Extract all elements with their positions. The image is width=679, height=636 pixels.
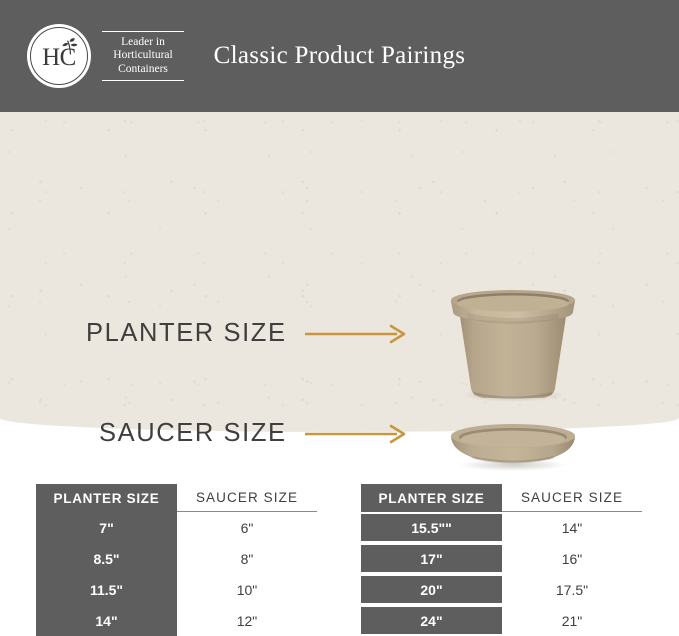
column-header-saucer-size: SAUCER SIZE [177,484,317,512]
column-header-planter-size: PLANTER SIZE [361,484,502,512]
hc-circle-logo-icon: HC [27,24,91,88]
callout-planter-size: PLANTER SIZE [86,319,409,348]
table-body: 15.5"" 14" 17" 16" 20" 17.5" 24" 21" [361,512,642,636]
hero-panel: PLANTER SIZE SAUCER SIZE [0,112,679,432]
table-header-row: PLANTER SIZE SAUCER SIZE [36,484,317,512]
table-row: 14" 12" [36,605,317,636]
cell-saucer-size: 14" [502,512,642,543]
callout-label-saucer: SAUCER SIZE [99,419,287,448]
cell-saucer-size: 16" [502,543,642,574]
header-bar: HC Leader in Horticultural Containers Cl… [0,0,679,112]
table-row: 8.5" 8" [36,543,317,574]
table-row: 15.5"" 14" [361,512,642,543]
planter-pot-image [437,280,589,402]
table-row: 24" 21" [361,605,642,636]
cell-saucer-size: 21" [502,605,642,636]
brand-block: HC Leader in Horticultural Containers [27,24,184,88]
cell-planter-size: 17" [361,545,502,572]
column-header-planter-size: PLANTER SIZE [36,484,177,512]
brand-tagline: Leader in Horticultural Containers [102,31,184,82]
cell-planter-size: 14" [36,605,177,636]
cell-saucer-size: 6" [177,512,317,543]
sprout-leaf-icon [61,38,81,55]
cell-saucer-size: 12" [177,605,317,636]
size-table-small: PLANTER SIZE SAUCER SIZE 7" 6" 8.5" 8" 1… [36,484,317,636]
table-row: 11.5" 10" [36,574,317,605]
saucer-dish-image [437,416,589,472]
cell-saucer-size: 10" [177,574,317,605]
size-table-large: PLANTER SIZE SAUCER SIZE 15.5"" 14" 17" … [361,484,642,636]
cell-planter-size: 11.5" [36,574,177,605]
table-row: 7" 6" [36,512,317,543]
table-header-row: PLANTER SIZE SAUCER SIZE [361,484,642,512]
cell-planter-size: 8.5" [36,543,177,574]
cell-saucer-size: 17.5" [502,574,642,605]
cell-planter-size: 7" [36,512,177,543]
cell-saucer-size: 8" [177,543,317,574]
cell-planter-size: 15.5"" [361,514,502,541]
callout-label-planter: PLANTER SIZE [86,319,287,348]
column-header-saucer-size: SAUCER SIZE [502,484,642,512]
callout-saucer-size: SAUCER SIZE [99,419,409,448]
right-arrow-icon [305,324,409,344]
table-body: 7" 6" 8.5" 8" 11.5" 10" 14" 12" [36,512,317,636]
logo-monogram: HC [27,24,91,88]
cell-planter-size: 24" [361,607,502,634]
table-row: 20" 17.5" [361,574,642,605]
right-arrow-icon [305,424,409,444]
cell-planter-size: 20" [361,576,502,603]
table-row: 17" 16" [361,543,642,574]
